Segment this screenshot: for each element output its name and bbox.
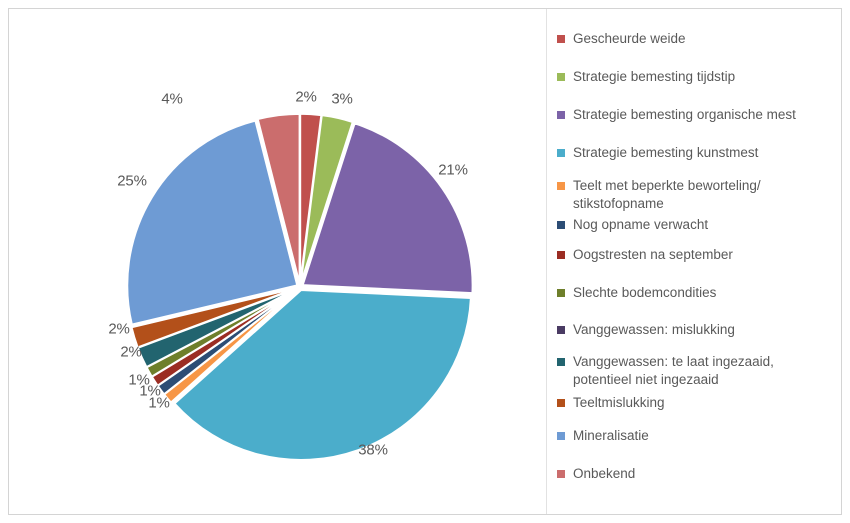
legend-item[interactable]: Mineralisatie [557, 427, 839, 445]
legend-swatch-icon [557, 358, 565, 366]
legend-item[interactable]: Gescheurde weide [557, 30, 839, 48]
legend-swatch-icon [557, 399, 565, 407]
legend-item-label: Nog opname verwacht [573, 216, 708, 234]
legend-item-label: Oogstresten na september [573, 246, 733, 264]
pie-label-vanggewassen-telaat: 2% [120, 344, 141, 361]
pie-label-strategie-tijdstip: 3% [331, 91, 352, 108]
legend-item[interactable]: Slechte bodemcondities [557, 284, 839, 302]
pie-label-strategie-kunstmest: 38% [358, 442, 387, 459]
legend-item-label: Teeltmislukking [573, 394, 665, 412]
pie-chart-svg [9, 9, 546, 514]
legend-item[interactable]: Nog opname verwacht [557, 216, 839, 234]
legend-item[interactable]: Vanggewassen: mislukking [557, 321, 839, 339]
pie-label-nog-opname-verwacht: 1% [148, 395, 169, 412]
legend-swatch-icon [557, 221, 565, 229]
pie-label-onbekend: 4% [161, 91, 182, 108]
pie-label-mineralisatie: 25% [117, 173, 146, 190]
pie-label-teeltmislukking: 2% [108, 321, 129, 338]
legend-item-label: Strategie bemesting tijdstip [573, 68, 735, 86]
legend-item[interactable]: Strategie bemesting tijdstip [557, 68, 839, 86]
legend-item[interactable]: Vanggewassen: te laat ingezaaid, potenti… [557, 353, 839, 389]
legend-item-label: Mineralisatie [573, 427, 649, 445]
legend-swatch-icon [557, 251, 565, 259]
legend-item[interactable]: Onbekend [557, 465, 839, 483]
legend-swatch-icon [557, 326, 565, 334]
chart-frame: 4% 2% 3% 21% 38% 25% 2% 2% 1% 1% 1% Gesc… [0, 0, 850, 523]
legend-item-label: Strategie bemesting kunstmest [573, 144, 758, 162]
legend-item-label: Strategie bemesting organische mest [573, 106, 796, 124]
chart-legend: Gescheurde weideStrategie bemesting tijd… [557, 20, 842, 500]
pie-label-strategie-org-mest: 21% [438, 162, 467, 179]
legend-divider [546, 9, 547, 514]
legend-swatch-icon [557, 470, 565, 478]
legend-swatch-icon [557, 73, 565, 81]
legend-swatch-icon [557, 432, 565, 440]
legend-item[interactable]: Oogstresten na september [557, 246, 839, 264]
legend-item-label: Onbekend [573, 465, 635, 483]
legend-swatch-icon [557, 182, 565, 190]
pie-slices-group [127, 114, 472, 460]
pie-label-gescheurde-weide: 2% [295, 89, 316, 106]
legend-swatch-icon [557, 289, 565, 297]
legend-item-label: Vanggewassen: te laat ingezaaid, potenti… [573, 353, 805, 389]
legend-item-label: Teelt met beperkte beworteling/ stikstof… [573, 177, 805, 213]
legend-swatch-icon [557, 35, 565, 43]
pie-plot-area: 4% 2% 3% 21% 38% 25% 2% 2% 1% 1% 1% [9, 9, 546, 514]
legend-item[interactable]: Teelt met beperkte beworteling/ stikstof… [557, 177, 839, 213]
legend-item[interactable]: Teeltmislukking [557, 394, 839, 412]
legend-item-label: Gescheurde weide [573, 30, 686, 48]
legend-item-label: Slechte bodemcondities [573, 284, 716, 302]
legend-swatch-icon [557, 149, 565, 157]
legend-swatch-icon [557, 111, 565, 119]
legend-item[interactable]: Strategie bemesting kunstmest [557, 144, 839, 162]
legend-item-label: Vanggewassen: mislukking [573, 321, 735, 339]
legend-item[interactable]: Strategie bemesting organische mest [557, 106, 839, 124]
